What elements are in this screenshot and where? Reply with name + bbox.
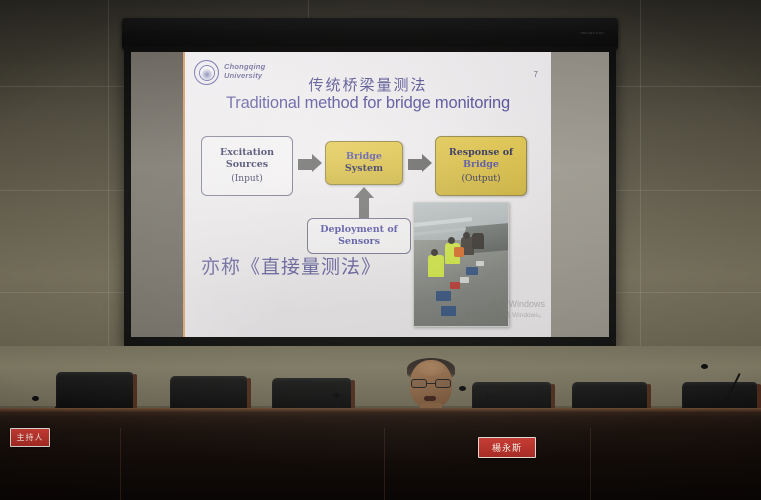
scene-vignette [0, 0, 761, 500]
lecture-hall-scene: PROJECTION Chongqing University 7 传统桥梁量测… [0, 0, 761, 500]
